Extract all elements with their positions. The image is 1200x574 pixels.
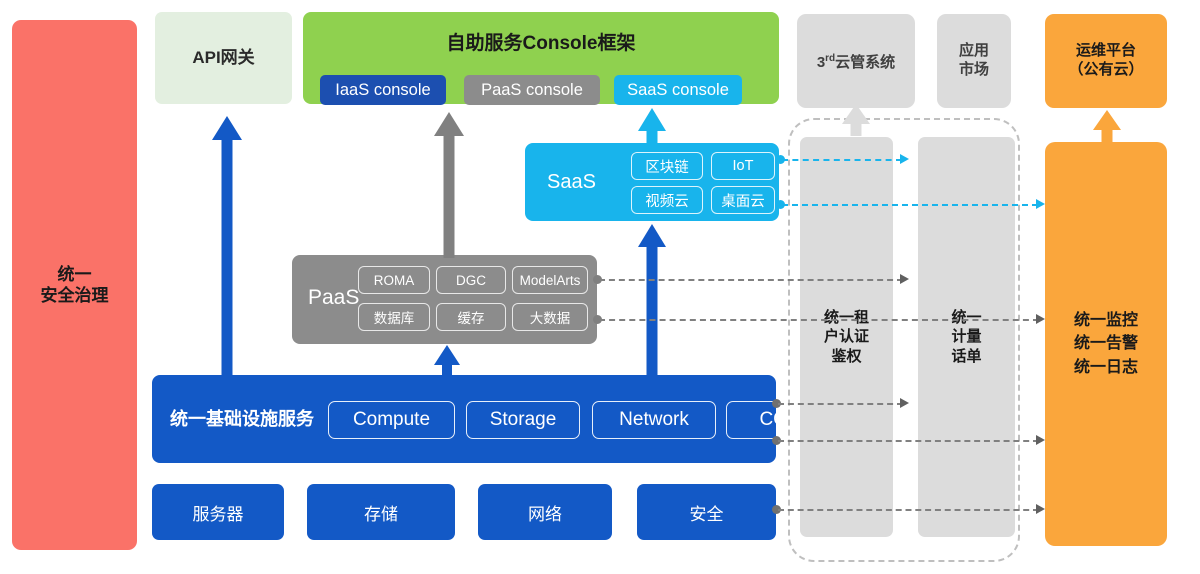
arrow-iaas-to-paas [434,345,460,377]
paas-item-dgc[interactable]: DGC [436,266,506,294]
arrowhead-infra-ops [1036,504,1045,514]
unified-security-governance-block: 统一 安全治理 [12,20,137,550]
arrow-iaas-to-saas [638,224,666,376]
saas-layer-block: SaaS 区块链 IoT 视频云 桌面云 [525,143,779,221]
paas-item-bigdata[interactable]: 大数据 [512,303,588,331]
iaas-item-storage[interactable]: Storage [466,401,580,439]
iaas-item-compute[interactable]: Compute [328,401,455,439]
connector-saas-to-ops [782,204,1038,206]
saas-item-video-cloud[interactable]: 视频云 [631,186,703,214]
connector-iaas-to-ops [778,440,1039,442]
app-market-block: 应用 市场 [937,14,1011,108]
ops-platform-public-cloud-block: 运维平台 （公有云） [1045,14,1167,108]
arrowhead-saas-auth [900,154,909,164]
unified-tenant-auth-column: 统一租 户认证 鉴权 [800,137,893,537]
connector-paas-to-auth [599,279,903,281]
unified-metering-column: 统一 计量 话单 [918,137,1015,537]
infra-item-security[interactable]: 安全 [637,484,776,540]
third-party-label: 3rd云管系统 [817,51,895,72]
paas-item-roma[interactable]: ROMA [358,266,430,294]
architecture-diagram: 统一 安全治理 API网关 自助服务Console框架 IaaS console… [0,0,1200,574]
connector-paas-to-ops [599,319,1039,321]
arrow-shared-to-third-party [842,104,870,136]
saas-item-iot[interactable]: IoT [711,152,775,180]
arrowhead-iaas-auth [900,398,909,408]
paas-layer-block: PaaS ROMA DGC ModelArts 数据库 缓存 大数据 [292,255,597,344]
paas-console-pill[interactable]: PaaS console [464,75,600,105]
iaas-layer-block: 统一基础设施服务 Compute Storage Network CCE [152,375,776,463]
saas-item-blockchain[interactable]: 区块链 [631,152,703,180]
connector-iaas-to-auth [778,403,903,405]
infra-item-storage[interactable]: 存储 [307,484,455,540]
arrow-iaas-to-api-gateway [212,116,242,378]
connector-infra-to-ops [778,509,1039,511]
paas-item-modelarts[interactable]: ModelArts [512,266,588,294]
arrowhead-paas-ops [1036,314,1045,324]
self-service-console-frame: 自助服务Console框架 IaaS console PaaS console … [303,12,779,104]
infra-item-network[interactable]: 网络 [478,484,612,540]
arrowhead-paas-auth [900,274,909,284]
iaas-layer-title: 统一基础设施服务 [170,405,314,431]
third-party-cloud-management-block: 3rd云管系统 [797,14,915,108]
arrow-ops-panel-to-ops-platform [1093,110,1121,144]
infra-item-server[interactable]: 服务器 [152,484,284,540]
paas-item-cache[interactable]: 缓存 [436,303,506,331]
iaas-item-network[interactable]: Network [592,401,716,439]
saas-item-desktop-cloud[interactable]: 桌面云 [711,186,775,214]
arrowhead-iaas-ops [1036,435,1045,445]
connector-saas-to-auth [782,159,902,161]
api-gateway-block: API网关 [155,12,292,104]
paas-layer-title: PaaS [308,286,359,310]
console-frame-title: 自助服务Console框架 [303,28,779,55]
arrow-paas-to-console [434,112,464,258]
paas-item-database[interactable]: 数据库 [358,303,430,331]
saas-console-pill[interactable]: SaaS console [614,75,742,105]
saas-layer-title: SaaS [547,171,596,194]
unified-ops-monitoring-panel: 统一监控 统一告警 统一日志 [1045,142,1167,546]
iaas-console-pill[interactable]: IaaS console [320,75,446,105]
arrow-saas-to-console [638,108,666,146]
arrowhead-saas-ops [1036,199,1045,209]
